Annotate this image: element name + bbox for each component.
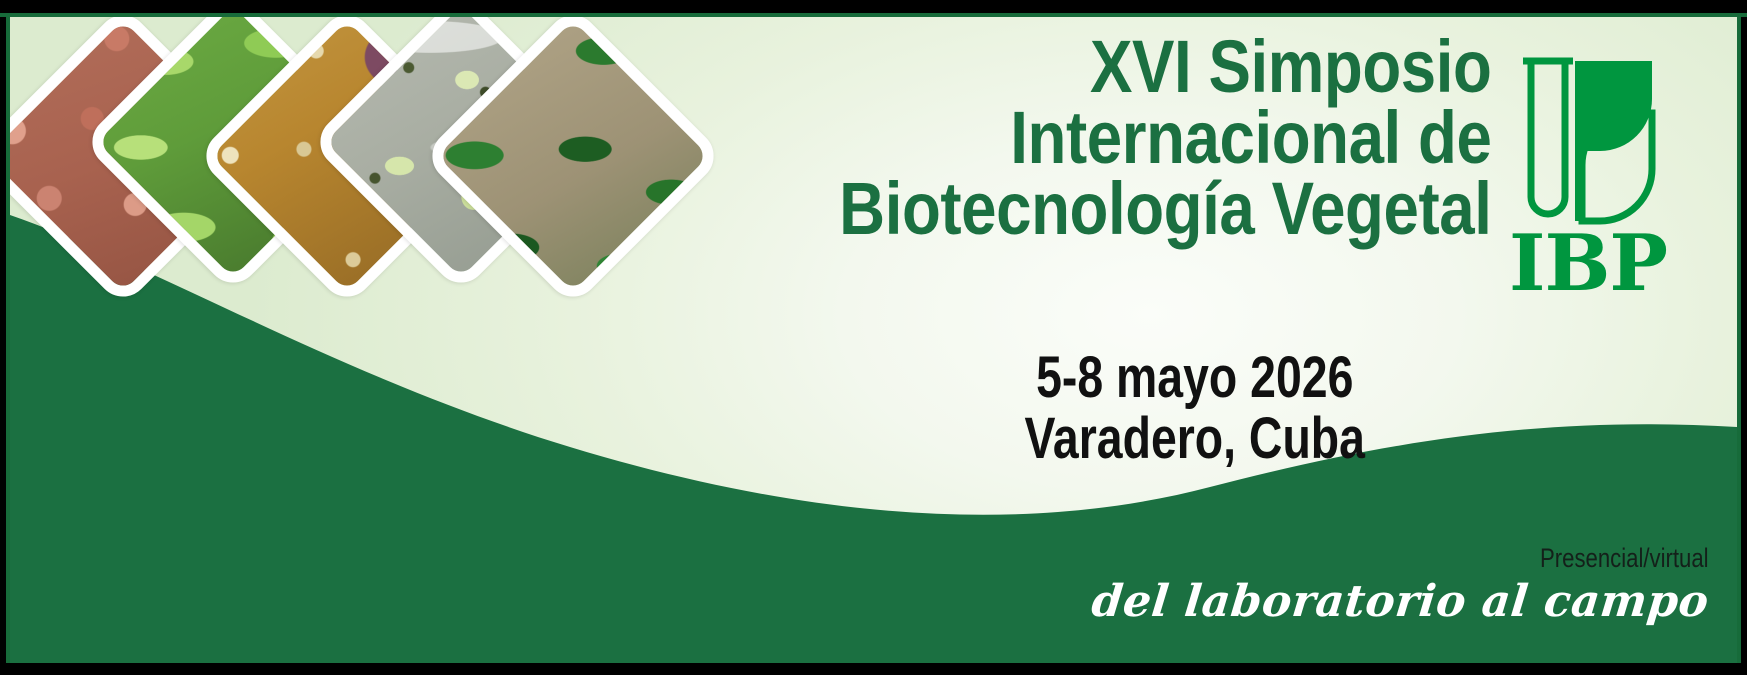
top-black-border <box>0 0 1747 13</box>
event-title: XVI Simposio Internacional de Biotecnolo… <box>733 31 1491 244</box>
ibp-logo: IBP <box>1509 47 1705 297</box>
right-green-rule <box>1737 13 1741 663</box>
title-line-2: Internacional de <box>839 102 1491 173</box>
title-and-logo: XVI Simposio Internacional de Biotecnolo… <box>733 31 1705 297</box>
title-line-3: Biotecnología Vegetal <box>839 173 1491 244</box>
event-slogan: del laboratorio al campo <box>1090 576 1712 627</box>
conference-banner: XVI Simposio Internacional de Biotecnolo… <box>0 0 1747 675</box>
event-details: 5-8 mayo 2026 Varadero, Cuba <box>982 347 1407 470</box>
event-location: Varadero, Cuba <box>1024 408 1364 469</box>
left-green-rule <box>6 13 10 663</box>
event-dates: 5-8 mayo 2026 <box>1024 347 1364 408</box>
tagline-block: Presencial/virtual del laboratorio al ca… <box>1092 543 1709 627</box>
test-tube-icon <box>1523 61 1573 214</box>
top-green-rule <box>0 13 1747 17</box>
attendance-mode: Presencial/virtual <box>1203 543 1709 574</box>
banner-artboard: XVI Simposio Internacional de Biotecnolo… <box>10 17 1737 663</box>
title-line-1: XVI Simposio <box>839 31 1491 102</box>
logo-acronym: IBP <box>1509 218 1667 297</box>
bottom-black-border <box>0 663 1747 675</box>
photo-collage <box>10 17 770 377</box>
